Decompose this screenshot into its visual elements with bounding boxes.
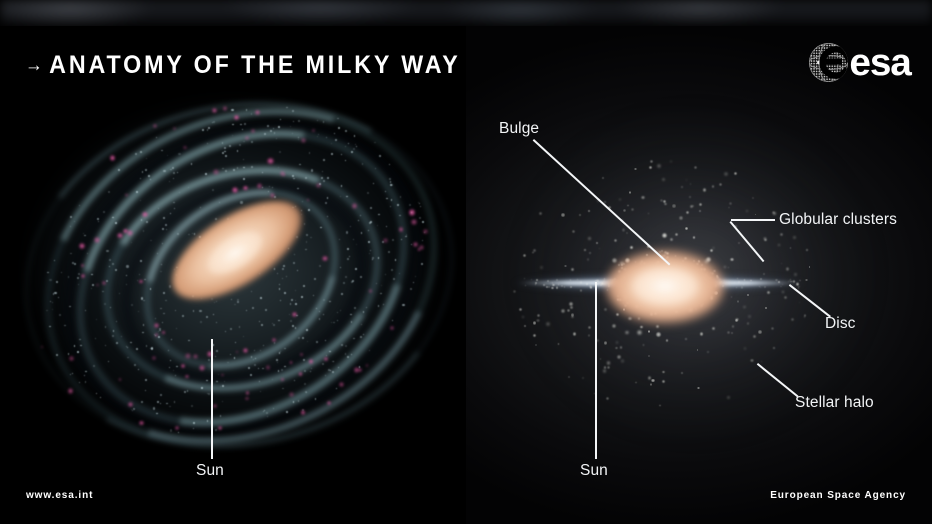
disc-star xyxy=(279,284,280,285)
disc-star xyxy=(251,166,253,168)
disc-star xyxy=(323,159,325,161)
star-forming-region xyxy=(79,243,85,249)
disc-star xyxy=(175,375,176,376)
disc-star xyxy=(59,314,61,316)
globular-cluster xyxy=(699,210,701,212)
globular-cluster xyxy=(615,347,618,350)
globular-cluster xyxy=(752,197,754,199)
star-forming-region xyxy=(183,146,186,149)
disc-star xyxy=(133,408,134,409)
disc-star xyxy=(155,318,156,319)
globular-cluster xyxy=(570,306,572,308)
star-forming-region xyxy=(110,155,116,161)
disc-star xyxy=(337,320,338,321)
star-forming-region xyxy=(243,348,248,353)
globular-cluster xyxy=(710,249,713,252)
globular-cluster xyxy=(719,183,722,186)
disc-star xyxy=(295,290,296,291)
disc-star xyxy=(586,283,587,284)
disc-star xyxy=(325,202,327,204)
disc-star xyxy=(400,196,401,197)
globular-cluster xyxy=(637,330,642,335)
disc-star xyxy=(243,336,244,337)
disc-star xyxy=(110,307,111,308)
disc-star xyxy=(321,177,323,179)
star-forming-region xyxy=(102,281,106,285)
star-forming-region xyxy=(413,242,418,247)
website-footer[interactable]: www.esa.int xyxy=(26,490,93,501)
disc-star xyxy=(277,362,278,363)
globular-cluster xyxy=(681,186,683,188)
disc-star xyxy=(338,367,339,368)
disc-star xyxy=(207,393,208,394)
disc-star xyxy=(140,151,142,153)
disc-star xyxy=(96,319,97,320)
globular-cluster xyxy=(648,376,651,379)
disc-star xyxy=(303,359,305,361)
disc-star xyxy=(298,400,299,401)
disc-star xyxy=(564,286,565,287)
globular-cluster xyxy=(513,290,516,293)
disc-star xyxy=(422,240,423,241)
globular-cluster xyxy=(727,331,730,334)
label-sun-face-on: Sun xyxy=(196,463,224,479)
disc-star xyxy=(103,211,105,213)
star-forming-region xyxy=(181,364,185,368)
globular-cluster xyxy=(612,258,617,263)
disc-star xyxy=(231,299,232,300)
disc-star xyxy=(738,281,740,283)
disc-star xyxy=(141,401,143,403)
globular-cluster xyxy=(614,239,617,242)
globular-cluster xyxy=(746,210,748,212)
esa-wordmark: esa xyxy=(849,44,910,82)
disc-star xyxy=(330,370,331,371)
star-forming-region xyxy=(243,186,247,190)
disc-star xyxy=(349,256,350,257)
disc-star xyxy=(401,239,402,240)
disc-star xyxy=(184,391,185,392)
globular-cluster xyxy=(650,383,652,385)
disc-star xyxy=(295,300,296,301)
globular-cluster xyxy=(780,233,783,236)
label-globular-clusters: Globular clusters xyxy=(779,212,897,228)
disc-star xyxy=(106,280,108,282)
disc-star xyxy=(106,250,108,252)
disc-star xyxy=(741,286,743,288)
disc-star xyxy=(295,327,296,328)
globular-cluster xyxy=(641,196,644,199)
disc-star xyxy=(599,282,600,283)
disc-star xyxy=(234,357,236,359)
star-forming-region xyxy=(185,353,190,358)
disc-star xyxy=(274,196,276,198)
star-forming-region xyxy=(266,365,270,369)
star-forming-region xyxy=(301,138,306,143)
star-forming-region xyxy=(128,402,133,407)
disc-star xyxy=(368,230,369,231)
disc-star xyxy=(347,258,349,260)
disc-star xyxy=(143,324,144,325)
disc-star xyxy=(225,170,227,172)
disc-star xyxy=(369,350,370,351)
disc-star xyxy=(274,132,275,133)
disc-star xyxy=(216,301,217,302)
disc-star xyxy=(182,315,184,317)
disc-star xyxy=(345,345,347,347)
disc-star xyxy=(764,286,766,288)
right-panel-edge-on: Bulge Globular clusters Disc Stellar hal… xyxy=(466,26,932,524)
disc-star xyxy=(395,259,396,260)
disc-star xyxy=(85,310,86,311)
disc-star xyxy=(200,207,201,208)
disc-star xyxy=(145,390,146,391)
disc-star xyxy=(173,370,174,371)
disc-star xyxy=(314,278,316,280)
disc-star xyxy=(310,237,312,239)
star-forming-region xyxy=(267,158,273,164)
disc-star xyxy=(261,324,263,326)
disc-star xyxy=(251,113,252,114)
disc-star xyxy=(260,391,261,392)
disc-star xyxy=(292,110,294,112)
disc-star xyxy=(415,276,416,277)
disc-star xyxy=(531,279,532,280)
disc-star xyxy=(282,278,283,279)
disc-star xyxy=(54,292,56,294)
globular-cluster xyxy=(657,164,661,168)
globular-cluster xyxy=(649,166,652,169)
disc-star xyxy=(145,169,147,171)
disc-star xyxy=(222,385,224,387)
disc-star xyxy=(222,168,223,169)
disc-star xyxy=(200,321,202,323)
disc-star xyxy=(243,167,244,168)
globular-cluster xyxy=(584,249,586,251)
disc-star xyxy=(778,281,780,283)
disc-star xyxy=(363,334,364,335)
disc-star xyxy=(536,279,538,281)
disc-star xyxy=(390,184,392,186)
globular-cluster xyxy=(712,327,715,330)
disc-star xyxy=(169,181,170,182)
disc-star xyxy=(174,402,175,403)
label-bulge: Bulge xyxy=(499,121,539,137)
disc-star xyxy=(370,207,372,209)
disc-star xyxy=(360,215,361,216)
disc-star xyxy=(305,177,306,178)
globular-cluster xyxy=(588,334,590,336)
disc-star xyxy=(402,304,404,306)
disc-star xyxy=(95,338,96,339)
disc-star xyxy=(193,310,194,311)
star-forming-region xyxy=(139,421,144,426)
disc-star xyxy=(139,274,140,275)
globular-cluster xyxy=(617,355,621,359)
disc-star xyxy=(262,172,263,173)
star-forming-region xyxy=(162,331,165,334)
disc-star xyxy=(793,280,795,282)
disc-star xyxy=(78,284,79,285)
disc-star xyxy=(208,127,210,129)
globular-cluster xyxy=(662,380,665,383)
star-forming-region xyxy=(300,353,303,356)
globular-cluster xyxy=(690,183,691,184)
disc-star xyxy=(316,341,318,343)
disc-star xyxy=(193,422,195,424)
globular-cluster xyxy=(664,203,666,205)
disc-star xyxy=(168,350,169,351)
globular-cluster xyxy=(685,338,687,340)
star-forming-region xyxy=(366,364,368,366)
globular-cluster xyxy=(758,330,762,334)
disc-star xyxy=(153,407,155,409)
disc-star xyxy=(272,187,273,188)
globular-cluster xyxy=(786,267,789,270)
star-forming-region xyxy=(223,106,228,111)
disc-star xyxy=(782,284,783,285)
globular-cluster xyxy=(533,321,536,324)
disc-star xyxy=(386,198,388,200)
disc-star xyxy=(306,234,308,236)
globular-cluster xyxy=(806,249,808,251)
star-forming-region xyxy=(125,194,128,197)
star-forming-region xyxy=(245,397,248,400)
disc-star xyxy=(322,363,324,365)
page-title-text: ANATOMY OF THE MILKY WAY xyxy=(49,51,461,79)
disc-star xyxy=(215,429,216,430)
disc-star xyxy=(378,257,379,258)
disc-star xyxy=(208,393,209,394)
leader-line-sun-face-on xyxy=(211,339,213,459)
globular-cluster xyxy=(603,369,607,373)
galactic-bulge-core xyxy=(632,268,698,304)
disc-star xyxy=(311,169,313,171)
disc-star xyxy=(199,310,201,312)
disc-star xyxy=(374,142,376,144)
disc-star xyxy=(790,279,791,280)
disc-star xyxy=(113,330,114,331)
disc-star xyxy=(193,428,194,429)
disc-star xyxy=(359,366,360,367)
disc-star xyxy=(156,137,157,138)
esa-logo[interactable]: esa xyxy=(808,40,910,85)
disc-star xyxy=(556,286,557,287)
disc-star xyxy=(346,231,348,233)
disc-star xyxy=(98,221,99,222)
disc-star xyxy=(265,309,267,311)
disc-star xyxy=(589,285,591,287)
globular-cluster xyxy=(640,326,643,329)
disc-star xyxy=(317,136,318,137)
disc-star xyxy=(341,344,343,346)
globular-cluster xyxy=(569,302,573,306)
disc-star xyxy=(173,172,175,174)
globular-cluster xyxy=(588,237,591,240)
disc-star xyxy=(528,284,529,285)
star-forming-region xyxy=(423,229,428,234)
disc-star xyxy=(140,260,141,261)
globular-cluster xyxy=(735,318,738,321)
disc-star xyxy=(597,280,599,282)
disc-star xyxy=(140,178,141,179)
disc-star xyxy=(206,380,207,381)
disc-star xyxy=(525,285,526,286)
disc-star xyxy=(290,126,291,127)
disc-star xyxy=(240,201,242,203)
star-forming-region xyxy=(173,127,176,130)
disc-star xyxy=(165,224,167,226)
disc-star xyxy=(356,146,357,147)
disc-star xyxy=(354,135,355,136)
globular-cluster xyxy=(634,168,636,170)
globular-cluster xyxy=(699,203,702,206)
disc-star xyxy=(151,347,153,349)
globular-cluster xyxy=(620,346,622,348)
globular-cluster xyxy=(625,331,628,334)
disc-star xyxy=(340,267,341,268)
globular-cluster xyxy=(689,196,691,198)
leader-line-sun-edge-on xyxy=(595,282,597,459)
disc-star xyxy=(422,221,424,223)
disc-star xyxy=(213,121,215,123)
disc-star xyxy=(391,269,393,271)
disc-star xyxy=(174,401,175,402)
disc-star xyxy=(112,263,114,265)
disc-star xyxy=(410,288,412,290)
globular-cluster xyxy=(656,332,661,337)
globular-cluster xyxy=(670,238,673,241)
disc-star xyxy=(215,218,217,220)
globular-cluster xyxy=(579,214,581,216)
globular-cluster xyxy=(685,227,687,229)
disc-star xyxy=(360,336,362,338)
disc-star xyxy=(353,148,354,149)
globular-cluster xyxy=(732,325,734,327)
disc-star xyxy=(70,226,71,227)
disc-star xyxy=(170,213,171,214)
disc-star xyxy=(77,277,79,279)
left-panel-face-on: Sun www.esa.int xyxy=(0,26,466,524)
globular-cluster xyxy=(793,236,795,238)
disc-star xyxy=(339,239,340,240)
star-forming-region xyxy=(232,187,238,193)
disc-star xyxy=(156,413,157,414)
disc-star xyxy=(258,368,259,369)
disc-star xyxy=(420,206,421,207)
disc-star xyxy=(250,374,252,376)
disc-star xyxy=(383,304,384,305)
disc-star xyxy=(319,318,320,319)
disc-star xyxy=(328,369,330,371)
disc-star xyxy=(392,320,393,321)
disc-star xyxy=(148,175,150,177)
globular-cluster xyxy=(663,200,666,203)
star-forming-region xyxy=(411,219,417,225)
star-forming-region xyxy=(81,274,85,278)
globular-cluster xyxy=(571,316,573,318)
globular-cluster xyxy=(536,319,539,322)
disc-star xyxy=(232,135,233,136)
disc-star xyxy=(301,210,302,211)
disc-star xyxy=(333,361,334,362)
disc-star xyxy=(77,351,79,353)
star-forming-region xyxy=(119,378,121,380)
disc-star xyxy=(308,209,310,211)
disc-star xyxy=(798,288,799,289)
disc-star xyxy=(191,405,193,407)
disc-star xyxy=(552,284,554,286)
disc-star xyxy=(243,141,244,142)
disc-star xyxy=(377,225,378,226)
disc-star xyxy=(220,386,221,387)
disc-star xyxy=(130,342,132,344)
disc-star xyxy=(392,239,394,241)
star-forming-region xyxy=(221,374,223,376)
globular-cluster xyxy=(564,265,566,267)
disc-star xyxy=(112,335,113,336)
star-forming-region xyxy=(127,230,133,236)
globular-cluster xyxy=(707,351,709,353)
star-forming-region xyxy=(142,212,147,217)
star-forming-region xyxy=(153,124,157,128)
disc-star xyxy=(72,262,73,263)
disc-star xyxy=(278,167,279,168)
arrow-right-icon: → xyxy=(25,55,43,77)
disc-star xyxy=(293,262,295,264)
disc-star xyxy=(145,379,147,381)
disc-star xyxy=(205,173,207,175)
disc-star xyxy=(370,250,371,251)
label-sun-edge-on: Sun xyxy=(580,463,608,479)
disc-star xyxy=(347,248,349,250)
disc-star xyxy=(220,415,222,417)
globular-cluster xyxy=(616,313,619,316)
globular-cluster xyxy=(773,347,775,349)
globular-cluster xyxy=(607,366,610,369)
star-forming-region xyxy=(123,229,127,233)
disc-star xyxy=(372,257,373,258)
disc-star xyxy=(192,233,193,234)
globular-cluster xyxy=(533,334,536,337)
globular-cluster xyxy=(602,177,604,179)
disc-star xyxy=(92,284,94,286)
disc-star xyxy=(380,293,382,295)
globular-cluster xyxy=(681,372,683,374)
globular-cluster xyxy=(630,246,633,249)
globular-cluster xyxy=(537,314,540,317)
esa-globe-emblem xyxy=(808,42,849,83)
disc-star xyxy=(303,285,305,287)
disc-star xyxy=(49,326,50,327)
globular-cluster xyxy=(778,244,780,246)
disc-star xyxy=(161,264,162,265)
globular-cluster xyxy=(604,366,606,368)
star-forming-region xyxy=(139,280,142,283)
disc-star xyxy=(213,314,214,315)
disc-star xyxy=(157,401,158,402)
disc-star xyxy=(552,282,553,283)
page-title: →ANATOMY OF THE MILKY WAY xyxy=(25,51,461,80)
disc-star xyxy=(280,119,281,120)
globular-cluster xyxy=(532,252,534,254)
top-light-strip xyxy=(0,0,932,26)
infographic-canvas: Sun www.esa.int Bulge Globular clusters … xyxy=(0,0,932,524)
disc-star xyxy=(215,356,216,357)
globular-cluster xyxy=(519,308,522,311)
star-forming-region xyxy=(213,404,217,408)
disc-star xyxy=(79,339,81,341)
